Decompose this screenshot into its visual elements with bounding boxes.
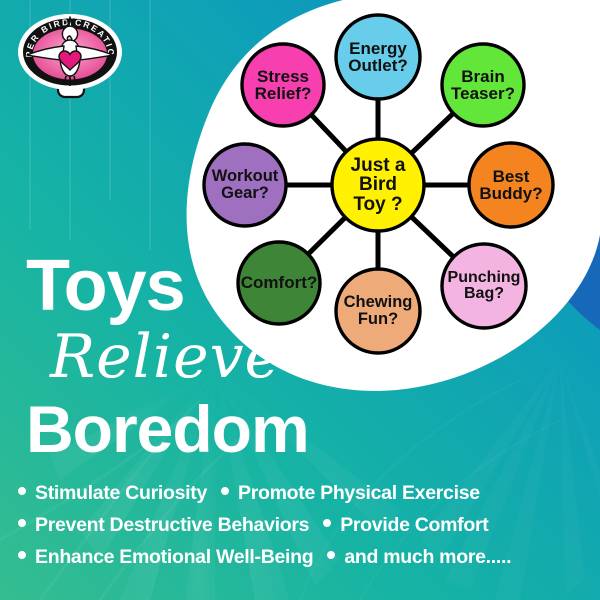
bullet-row: Prevent Destructive BehaviorsProvide Com… xyxy=(18,514,588,537)
bullet-dot-icon xyxy=(327,551,335,559)
super-bird-creations-logo: SUPER BIRD CREATIONS xyxy=(14,7,126,103)
bullet-item: Provide Comfort xyxy=(323,514,488,537)
bullet-text: Promote Physical Exercise xyxy=(238,482,480,505)
bullet-dot-icon xyxy=(18,487,26,495)
diagram-edge-punching-bag xyxy=(408,214,456,260)
diagram-node-energy-outlet[interactable] xyxy=(336,15,420,99)
bullet-text: Stimulate Curiosity xyxy=(35,482,207,505)
bullet-item: Promote Physical Exercise xyxy=(221,482,480,505)
bullet-text: and much more..... xyxy=(344,546,511,569)
headline-line-toys: Toys xyxy=(26,252,386,320)
bullet-text: Prevent Destructive Behaviors xyxy=(35,514,309,537)
headline-line-boredom: Boredom xyxy=(26,394,386,464)
bullet-row: Enhance Emotional Well-Beingand much mor… xyxy=(18,546,588,569)
bullet-dot-icon xyxy=(221,487,229,495)
diagram-edge-brain-teaser xyxy=(408,111,456,157)
bullet-item: Enhance Emotional Well-Being xyxy=(18,546,313,569)
poster-canvas: SUPER BIRD CREATIONS StressRelief?Energy… xyxy=(0,0,600,600)
diagram-edge-comfort xyxy=(305,215,348,257)
benefit-bullet-list: Stimulate CuriosityPromote Physical Exer… xyxy=(18,482,588,578)
diagram-node-brain-teaser[interactable] xyxy=(442,44,524,126)
bullet-text: Enhance Emotional Well-Being xyxy=(35,546,313,569)
headline-line-relieve: Relieve xyxy=(50,320,386,394)
bullet-item: Prevent Destructive Behaviors xyxy=(18,514,309,537)
diagram-node-best-buddy[interactable] xyxy=(469,143,553,227)
bullet-dot-icon xyxy=(18,519,26,527)
headline-block: Toys Relieve Boredom xyxy=(26,252,386,464)
bullet-row: Stimulate CuriosityPromote Physical Exer… xyxy=(18,482,588,505)
diagram-node-stress-relief[interactable] xyxy=(242,44,324,126)
diagram-node-punching-bag[interactable] xyxy=(442,244,526,328)
bullet-dot-icon xyxy=(323,519,331,527)
bullet-text: Provide Comfort xyxy=(340,514,488,537)
bullet-item: and much more..... xyxy=(327,546,511,569)
diagram-edge-stress-relief xyxy=(308,112,349,155)
bullet-dot-icon xyxy=(18,551,26,559)
diagram-node-workout-gear[interactable] xyxy=(204,144,286,226)
bullet-item: Stimulate Curiosity xyxy=(18,482,207,505)
diagram-node-center[interactable] xyxy=(332,139,424,231)
